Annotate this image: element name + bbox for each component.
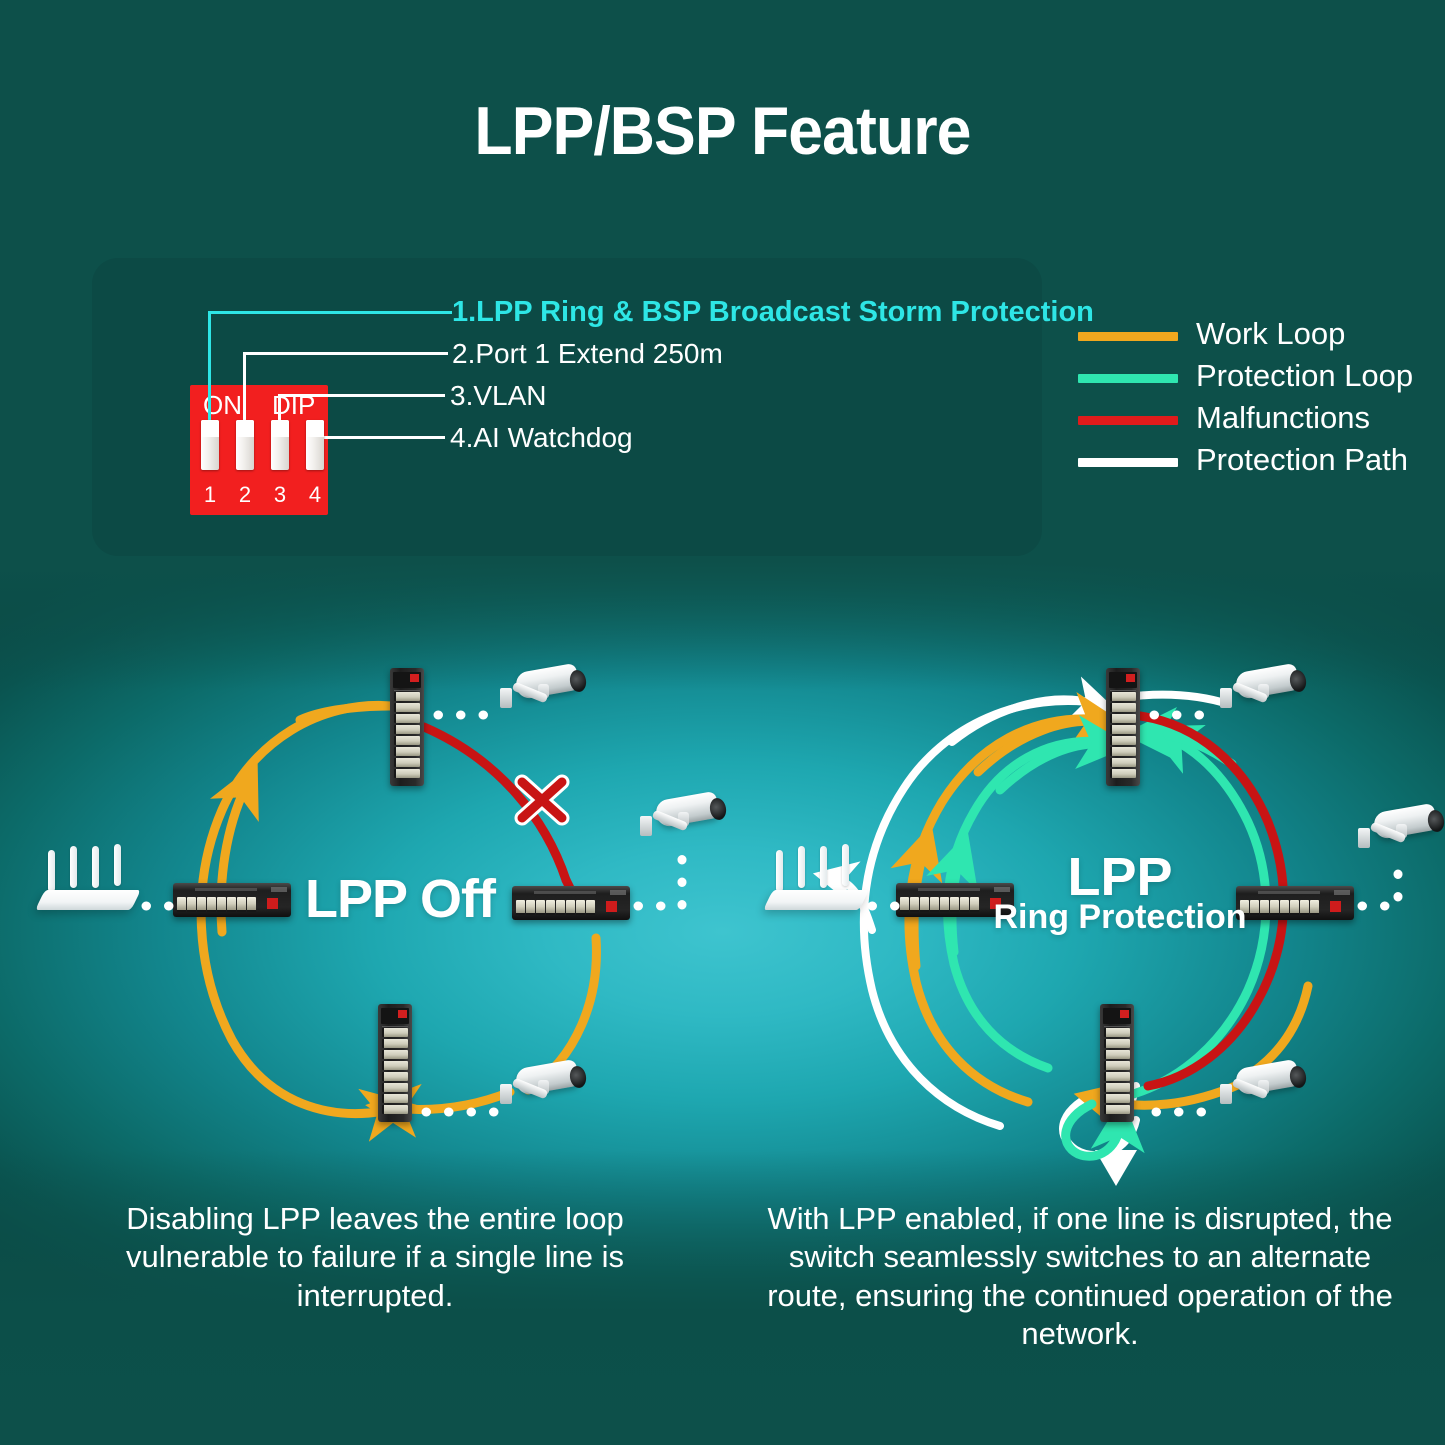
switch-port: [394, 747, 420, 756]
switch-port: [227, 897, 236, 912]
switch-port: [1110, 725, 1136, 734]
dip-switch-2-cap: [236, 420, 254, 437]
switch-port: [1104, 1072, 1130, 1081]
switch-dip-indicator: [1126, 674, 1135, 682]
camera-mount: [1358, 828, 1370, 848]
switch-port: [546, 900, 555, 915]
switch-port: [1104, 1061, 1130, 1070]
switch-port: [1300, 900, 1309, 915]
switch-print: [195, 888, 257, 891]
switch-port: [1290, 900, 1299, 915]
right-diagram-caption: With LPP enabled, if one line is disrupt…: [760, 1200, 1400, 1354]
switch-port: [1104, 1105, 1130, 1114]
switch-divider: [1110, 690, 1136, 691]
switch-dip-indicator: [398, 1010, 407, 1018]
legend-label-protection-loop: Protection Loop: [1196, 358, 1413, 394]
switch-body: [512, 886, 630, 920]
switch-brand-mark: [610, 890, 626, 895]
switch-port: [576, 900, 585, 915]
switch-dip-indicator: [606, 901, 617, 912]
switch-ports: [1104, 1028, 1130, 1116]
switch-dip-indicator: [267, 898, 278, 909]
router-antenna-4: [842, 844, 849, 886]
switch-brand-mark: [994, 887, 1010, 892]
switch-port: [394, 703, 420, 712]
switch-divider: [394, 690, 420, 691]
switch-port: [1110, 692, 1136, 701]
switch-body: [1100, 1004, 1134, 1122]
switch-ports: [516, 900, 595, 913]
camera-left-bottom: [498, 1064, 593, 1114]
switch-port: [382, 1105, 408, 1114]
switch-port: [394, 769, 420, 778]
camera-right-top: [1218, 668, 1313, 718]
switch-brand-mark: [1334, 890, 1350, 895]
camera-mount: [500, 1084, 512, 1104]
dip-switch-4[interactable]: [306, 420, 324, 470]
legend-label-work-loop: Work Loop: [1196, 316, 1345, 352]
switch-port: [900, 897, 909, 912]
switch-print: [534, 891, 596, 894]
switch-dip-indicator: [410, 674, 419, 682]
router-body: [35, 890, 141, 910]
switch-port: [950, 897, 959, 912]
switch-body: [378, 1004, 412, 1122]
dip-feature-label-3: 3.VLAN: [450, 380, 547, 412]
left-diagram-caption: Disabling LPP leaves the entire loop vul…: [70, 1200, 680, 1315]
dip-switch-3[interactable]: [271, 420, 289, 470]
switch-print: [1258, 891, 1320, 894]
switch-port: [207, 897, 216, 912]
switch-port: [382, 1072, 408, 1081]
switch-port: [382, 1083, 408, 1092]
switch-port: [382, 1061, 408, 1070]
switch-vertical-bottom-on: [1100, 1004, 1134, 1122]
router-left: [40, 856, 140, 916]
switch-ports: [177, 897, 256, 910]
switch-port: [1104, 1050, 1130, 1059]
camera-right-bottom: [1218, 1064, 1313, 1114]
switch-port: [940, 897, 949, 912]
switch-vertical-bottom-off: [378, 1004, 412, 1122]
router-antenna-2: [70, 846, 77, 888]
switch-body: [390, 668, 424, 786]
switch-horizontal-left-off: [173, 883, 291, 917]
dip-switch-4-cap: [306, 420, 324, 437]
right-diagram-label-secondary: Ring Protection: [960, 898, 1280, 937]
switch-port: [556, 900, 565, 915]
switch-port: [920, 897, 929, 912]
dip-switch-1-cap: [201, 420, 219, 437]
switch-port: [394, 714, 420, 723]
switch-port: [394, 692, 420, 701]
switch-port: [1104, 1094, 1130, 1103]
switch-port: [910, 897, 919, 912]
router-antenna-1: [48, 850, 55, 892]
switch-port: [382, 1050, 408, 1059]
switch-port: [930, 897, 939, 912]
camera-mount: [640, 816, 652, 836]
infographic-root: LPP/BSP Feature ON DIP 1 2 3 4 1.LPP Rin…: [0, 0, 1445, 1445]
switch-port: [247, 897, 256, 912]
switch-port: [394, 725, 420, 734]
router-antenna-3: [820, 846, 827, 888]
switch-ports: [1110, 692, 1136, 780]
switch-port: [237, 897, 246, 912]
switch-port: [394, 758, 420, 767]
dip-switch-number-3: 3: [271, 482, 289, 508]
left-diagram-label: LPP Off: [300, 868, 500, 930]
camera-left-right: [638, 796, 733, 846]
dip-switch-number-2: 2: [236, 482, 254, 508]
dip-switch-number-1: 1: [201, 482, 219, 508]
legend-label-malfunctions: Malfunctions: [1196, 400, 1370, 436]
switch-horizontal-right-off: [512, 886, 630, 920]
router-body: [763, 890, 869, 910]
legend-swatch-protection-loop: [1078, 374, 1178, 383]
switch-port: [536, 900, 545, 915]
switch-port: [382, 1028, 408, 1037]
switch-port: [1104, 1083, 1130, 1092]
switch-port: [197, 897, 206, 912]
dip-switch-number-4: 4: [306, 482, 324, 508]
camera-mount: [1220, 1084, 1232, 1104]
switch-divider: [1104, 1026, 1130, 1027]
switch-port: [1110, 758, 1136, 767]
switch-print: [918, 888, 980, 891]
dip-feature-label-2: 2.Port 1 Extend 250m: [452, 338, 723, 370]
legend-swatch-protection-path: [1078, 458, 1178, 467]
switch-vertical-top-on: [1106, 668, 1140, 786]
switch-dip-indicator: [1120, 1010, 1129, 1018]
switch-port: [586, 900, 595, 915]
router-antenna-3: [92, 846, 99, 888]
switch-port: [1310, 900, 1319, 915]
switch-port: [566, 900, 575, 915]
switch-port: [1110, 714, 1136, 723]
switch-port: [1104, 1039, 1130, 1048]
page-title: LPP/BSP Feature: [58, 92, 1387, 170]
switch-divider: [382, 1026, 408, 1027]
switch-port: [1280, 900, 1289, 915]
dip-switch-1[interactable]: [201, 420, 219, 470]
switch-port: [1110, 703, 1136, 712]
router-right: [768, 856, 868, 916]
router-antenna-4: [114, 844, 121, 886]
switch-dip-indicator: [1330, 901, 1341, 912]
switch-port: [382, 1094, 408, 1103]
switch-port: [1110, 736, 1136, 745]
dip-feature-label-1: 1.LPP Ring & BSP Broadcast Storm Protect…: [452, 296, 1094, 329]
dip-feature-label-4: 4.AI Watchdog: [450, 422, 633, 454]
switch-port: [187, 897, 196, 912]
switch-ports: [394, 692, 420, 780]
switch-brand-mark: [271, 887, 287, 892]
legend-swatch-work-loop: [1078, 332, 1178, 341]
switch-port: [1104, 1028, 1130, 1037]
camera-mount: [500, 688, 512, 708]
switch-port: [217, 897, 226, 912]
camera-left-top: [498, 668, 593, 718]
dip-switch-2[interactable]: [236, 420, 254, 470]
switch-port: [1110, 747, 1136, 756]
switch-port: [1110, 769, 1136, 778]
legend-swatch-malfunctions: [1078, 416, 1178, 425]
router-antenna-1: [776, 850, 783, 892]
camera-right-right: [1356, 808, 1445, 858]
switch-port: [382, 1039, 408, 1048]
switch-body: [173, 883, 291, 917]
camera-mount: [1220, 688, 1232, 708]
switch-port: [526, 900, 535, 915]
router-antenna-2: [798, 846, 805, 888]
switch-port: [516, 900, 525, 915]
switch-body: [1106, 668, 1140, 786]
legend-label-protection-path: Protection Path: [1196, 442, 1408, 478]
switch-vertical-top-off: [390, 668, 424, 786]
dip-switch-3-cap: [271, 420, 289, 437]
switch-port: [177, 897, 186, 912]
switch-port: [394, 736, 420, 745]
switch-ports: [382, 1028, 408, 1116]
